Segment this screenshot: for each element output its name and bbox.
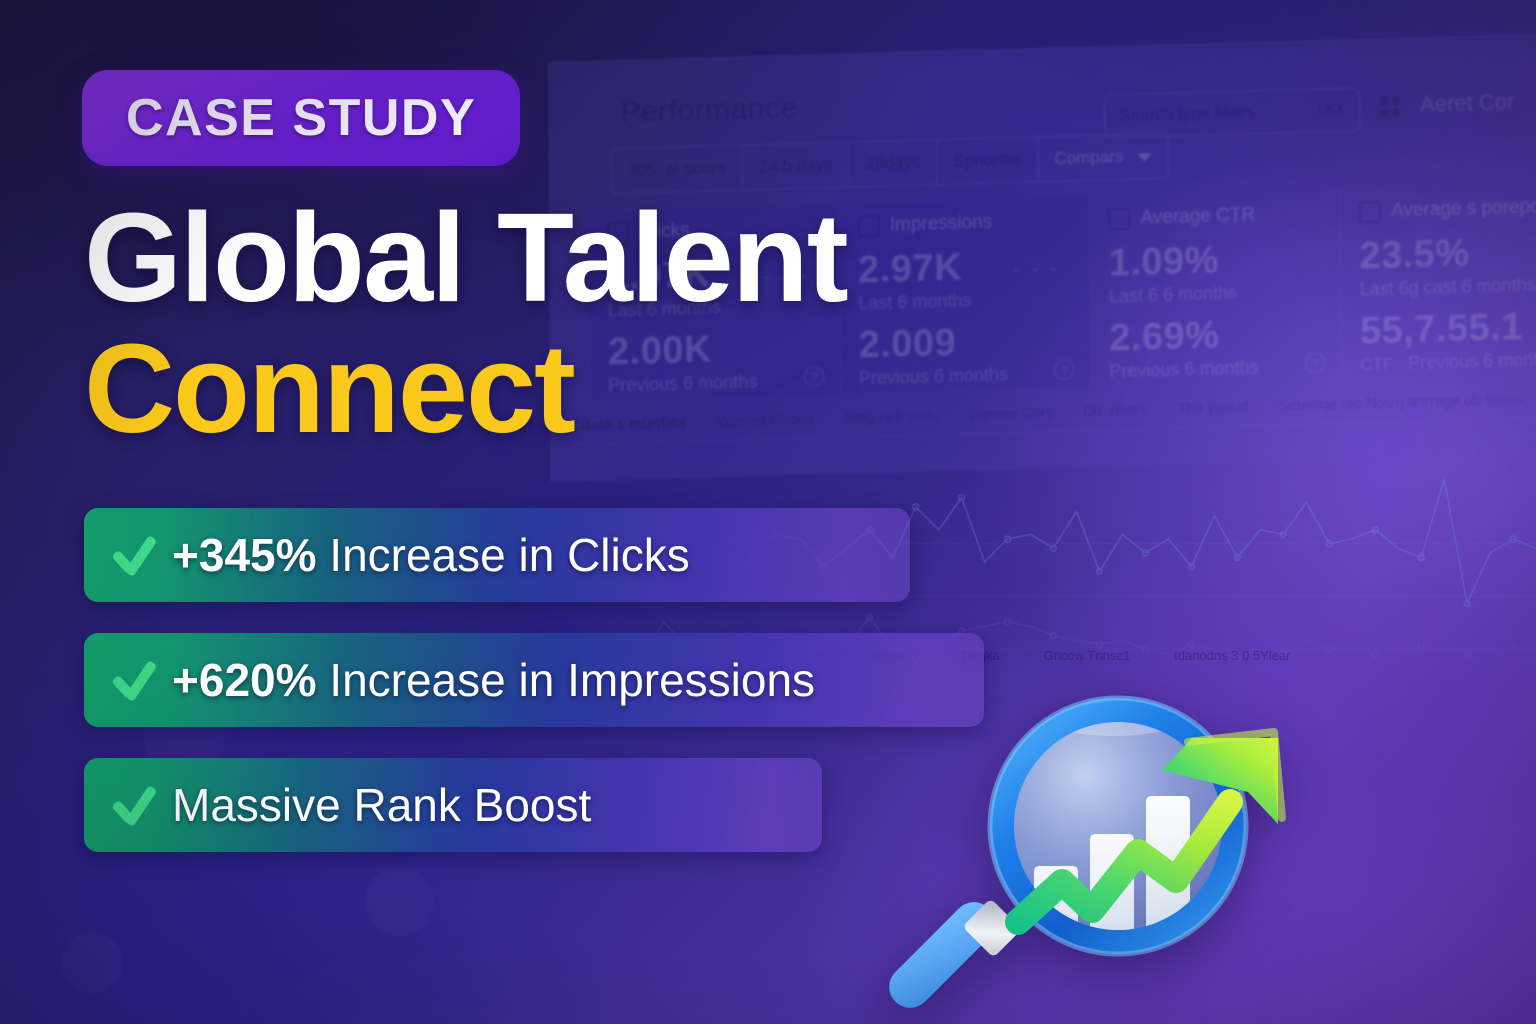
chart-point bbox=[1510, 646, 1516, 652]
lens-bar-chart bbox=[1026, 693, 1204, 951]
benefit-item-clicks: +345% Increase in Clicks bbox=[84, 508, 910, 602]
chart-point bbox=[1464, 651, 1470, 657]
lens-bar-3 bbox=[1146, 796, 1190, 950]
checkbox-icon bbox=[1359, 201, 1381, 224]
metric-current-sub: Last 6g cast 6 months bbox=[1360, 273, 1536, 300]
case-study-poster: Performance 305: al bours 24 b days 28da… bbox=[0, 0, 1536, 1024]
case-study-badge: CASE STUDY bbox=[82, 70, 520, 166]
chart-point bbox=[1051, 633, 1057, 639]
chart-point bbox=[1372, 651, 1378, 657]
chart-point bbox=[1510, 536, 1516, 542]
case-study-badge-label: CASE STUDY bbox=[126, 88, 476, 148]
benefit-metric: +620% bbox=[172, 654, 317, 706]
benefit-label: Massive Rank Boost bbox=[172, 779, 591, 831]
chart-point bbox=[1142, 646, 1148, 652]
benefit-item-rank: Massive Rank Boost bbox=[84, 758, 822, 852]
check-icon bbox=[110, 782, 156, 828]
metric-card-average-ctr: Average CTR 1.09% Last 6 6 months 2.69% … bbox=[1090, 190, 1342, 387]
chart-point bbox=[1188, 564, 1194, 570]
chart-point bbox=[1280, 651, 1286, 657]
chart-point bbox=[1326, 646, 1332, 652]
magnifier-rim-highlight bbox=[990, 698, 1246, 954]
metric-previous-sub-text: Previous 6 months bbox=[1408, 349, 1536, 373]
magnifier-rim bbox=[1002, 710, 1234, 942]
checkbox-icon bbox=[1108, 208, 1130, 231]
metric-previous-sub: CTF Previous 6 months bbox=[1360, 348, 1536, 375]
add-column-label: Aeret Cor bbox=[1420, 89, 1514, 118]
benefit-text: +620% Increase in Impressions bbox=[172, 653, 815, 707]
page-title: Global Talent Connect bbox=[84, 196, 964, 451]
chart-point bbox=[1280, 531, 1286, 537]
search-suffix-text: TXX bbox=[1314, 101, 1345, 120]
benefit-list: +345% Increase in Clicks +620% Increase … bbox=[84, 508, 984, 883]
dashboard-search-field: Search type filters TXX bbox=[1104, 87, 1360, 138]
legend-item: The ygoud bbox=[1177, 399, 1248, 418]
legend-item: Werree Cors bbox=[969, 404, 1054, 423]
chart-label: Idanodns 3 0 5Ylear bbox=[1174, 648, 1290, 663]
metric-sparkline-dashes: - - - bbox=[1014, 258, 1060, 282]
headline-line-1: Global Talent bbox=[84, 196, 964, 321]
benefit-text: Massive Rank Boost bbox=[172, 778, 591, 832]
chart-point bbox=[1234, 656, 1240, 662]
headline-line-2: Connect bbox=[84, 327, 964, 452]
lens-bar-1 bbox=[1034, 866, 1078, 950]
metric-current-value: 23.5% bbox=[1359, 231, 1536, 277]
check-icon bbox=[110, 532, 156, 578]
metric-ctf-label: CTF bbox=[1360, 354, 1393, 374]
magnifier-handle bbox=[886, 893, 1022, 1016]
upward-trend-arrow bbox=[1018, 732, 1282, 922]
benefit-label: Increase in Clicks bbox=[317, 529, 690, 581]
lens-sheen bbox=[1026, 693, 1204, 737]
chart-point bbox=[1097, 568, 1103, 574]
search-placeholder-text: Search type filters bbox=[1119, 102, 1255, 126]
benefit-label: Increase in Impressions bbox=[317, 654, 816, 706]
chart-point bbox=[1326, 541, 1332, 547]
benefit-text: +345% Increase in Clicks bbox=[172, 528, 690, 582]
metric-current-value: 1.09% bbox=[1109, 238, 1323, 284]
dashboard-date-tabs: 305: al bours 24 b days 28days Spnorths … bbox=[611, 133, 1169, 195]
chart-point bbox=[1418, 642, 1424, 648]
magnifier-lens bbox=[1002, 710, 1234, 942]
metric-label: Average s porepostion bbox=[1391, 195, 1536, 222]
chart-point bbox=[1005, 536, 1011, 542]
chart-point bbox=[1188, 642, 1194, 648]
metric-current-sub: Last 6 6 months bbox=[1109, 280, 1323, 307]
tab-range-1: 24 b days bbox=[743, 143, 850, 190]
metric-card-average-position: Average s porepostion 23.5% Last 6g cast… bbox=[1341, 183, 1536, 380]
chart-point bbox=[1142, 550, 1148, 556]
legend-item: Seterlige olo Noizq anrrage ob Sitins bbox=[1278, 391, 1522, 415]
metric-label: Average CTR bbox=[1140, 204, 1255, 229]
help-icon: ? bbox=[1305, 352, 1325, 373]
dashboard-title: Performance bbox=[620, 91, 797, 130]
chart-point bbox=[1097, 642, 1103, 648]
chart-point bbox=[1418, 554, 1424, 560]
grid-icon bbox=[1380, 96, 1400, 117]
metric-previous-sub: Previous 6 months bbox=[1109, 355, 1323, 382]
chart-point bbox=[959, 495, 965, 501]
benefit-item-impressions: +620% Increase in Impressions bbox=[84, 633, 984, 727]
legend-item: Dit. Rloxs bbox=[1083, 401, 1147, 420]
chart-point bbox=[1234, 554, 1240, 560]
benefit-metric: +345% bbox=[172, 529, 317, 581]
chart-point bbox=[1005, 619, 1011, 625]
lens-bar-2 bbox=[1090, 834, 1134, 950]
chart-point bbox=[1051, 545, 1057, 551]
check-icon bbox=[110, 657, 156, 703]
chart-label: Gncow Tnnsc1 bbox=[1044, 648, 1130, 663]
metric-previous-value: 55,7.55.1 bbox=[1360, 306, 1536, 352]
chart-point bbox=[1464, 600, 1470, 606]
metric-previous-value: 2.69% bbox=[1109, 313, 1323, 359]
tab-compare-dropdown: Compars bbox=[1038, 134, 1167, 182]
tab-range-2: 28days bbox=[850, 140, 938, 186]
chart-point bbox=[1372, 527, 1378, 533]
help-icon: ? bbox=[1054, 359, 1074, 380]
tab-range-3: Spnorths bbox=[937, 137, 1038, 184]
